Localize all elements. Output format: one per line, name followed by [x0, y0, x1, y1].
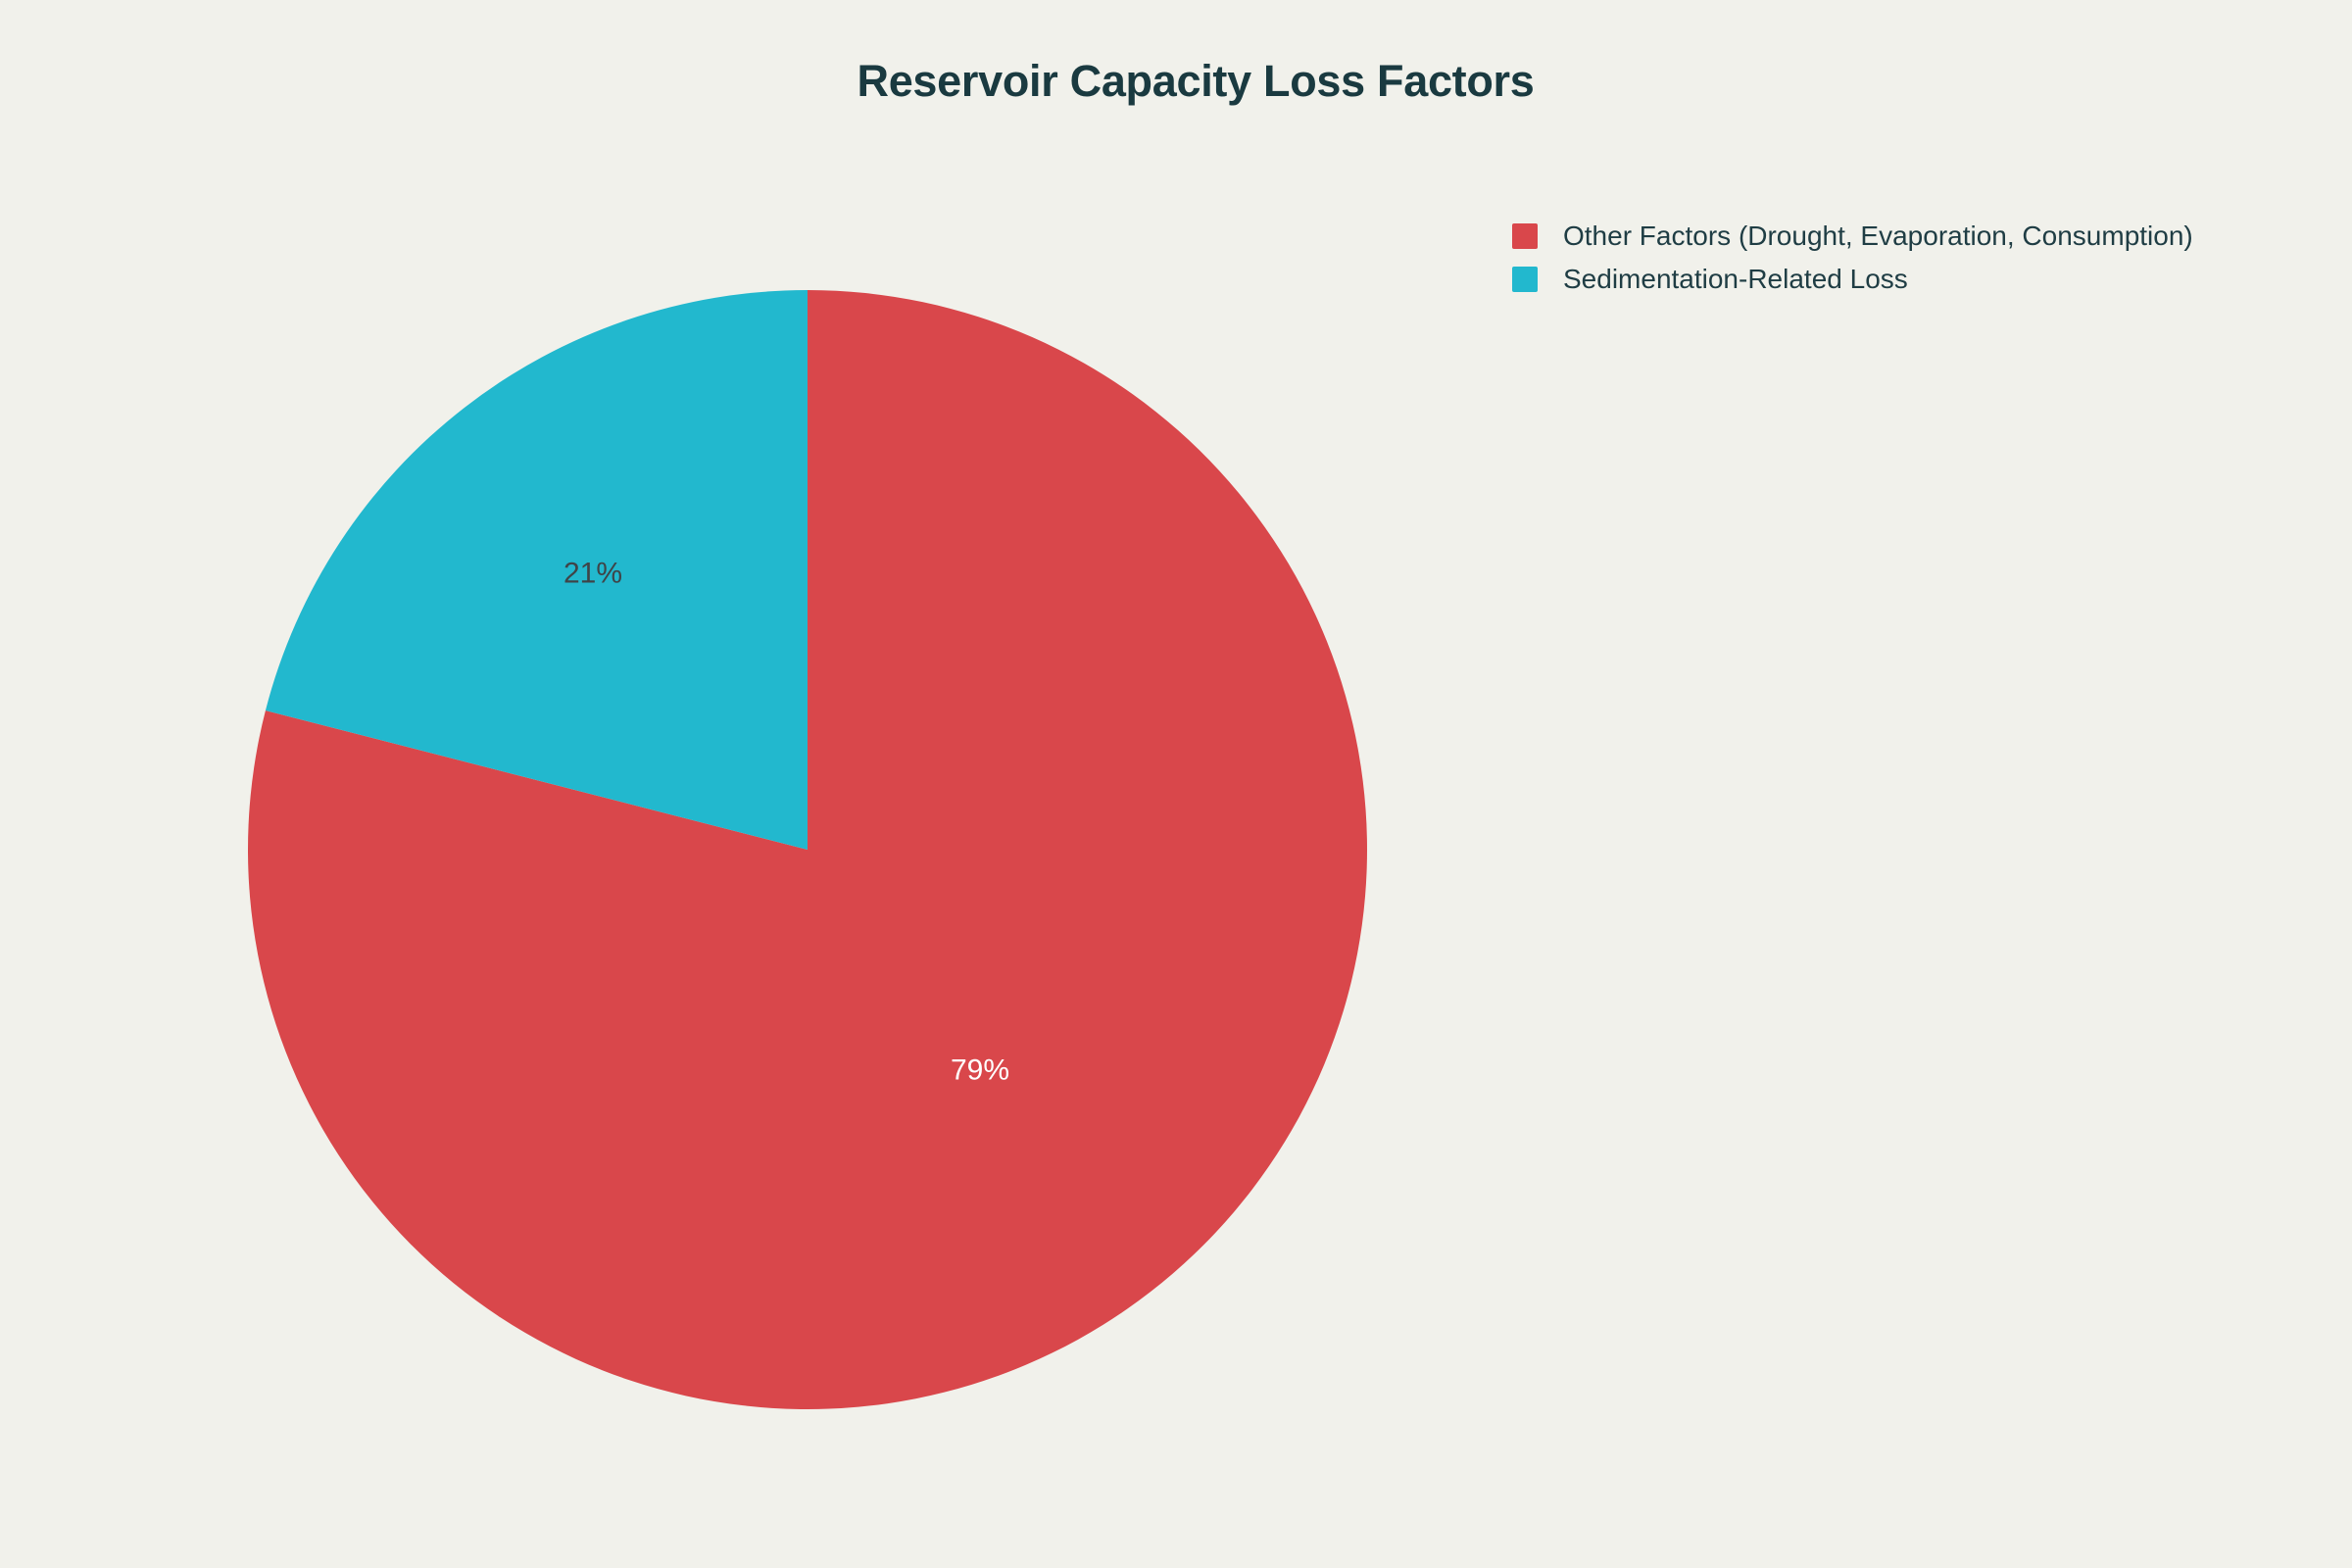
pie-slice-value-label: 21%: [563, 558, 622, 590]
legend-item-sedimentation[interactable]: Sedimentation-Related Loss: [1512, 258, 2335, 301]
pie-slice-value-label: 79%: [951, 1054, 1009, 1087]
legend-swatch-other-factors: [1512, 223, 1538, 249]
pie-slice-group: [248, 290, 1367, 1409]
chart-figure: Reservoir Capacity Loss Factors 79%21% O…: [0, 0, 2352, 1568]
legend: Other Factors (Drought, Evaporation, Con…: [1512, 215, 2335, 301]
legend-label-sedimentation: Sedimentation-Related Loss: [1563, 266, 1908, 293]
legend-label-other-factors: Other Factors (Drought, Evaporation, Con…: [1563, 222, 2193, 250]
legend-swatch-sedimentation: [1512, 267, 1538, 292]
legend-item-other-factors[interactable]: Other Factors (Drought, Evaporation, Con…: [1512, 215, 2335, 258]
